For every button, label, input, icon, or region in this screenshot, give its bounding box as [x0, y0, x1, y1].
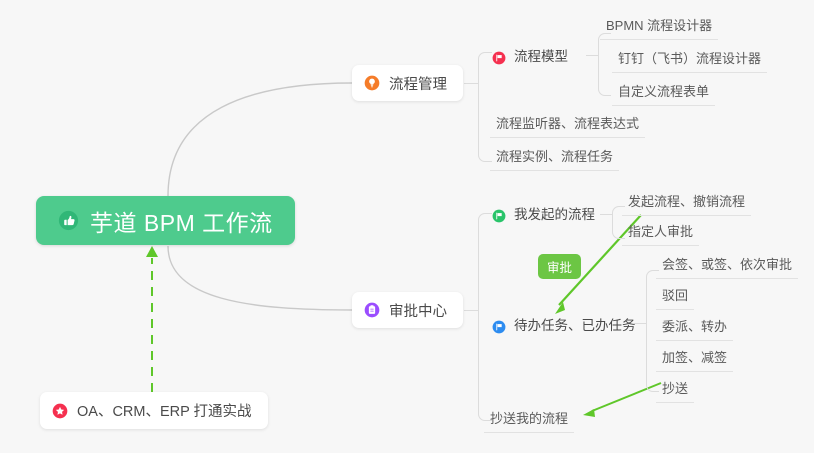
- root-label: 芋道 BPM 工作流: [90, 204, 273, 238]
- leaf-cc[interactable]: 抄送: [656, 375, 694, 403]
- leaf-start-cancel-process-label: 发起流程、撤销流程: [628, 191, 745, 210]
- bracket-approval-center: [478, 213, 492, 421]
- stub-process-model: [586, 55, 599, 56]
- bottom-note-label: OA、CRM、ERP 打通实战: [77, 400, 252, 421]
- leaf-countersign[interactable]: 会签、或签、依次审批: [656, 251, 798, 279]
- stub-process-management: [464, 83, 479, 84]
- approval-tag-label: 审批: [547, 257, 572, 276]
- leaf-assignee-approval-label: 指定人审批: [628, 221, 693, 240]
- leaf-start-cancel-process[interactable]: 发起流程、撤销流程: [622, 188, 751, 216]
- bottom-note-node[interactable]: OA、CRM、ERP 打通实战: [40, 392, 268, 429]
- branch-approval-center[interactable]: 审批中心: [352, 292, 463, 328]
- leaf-process-listener-label: 流程监听器、流程表达式: [496, 113, 639, 132]
- root-node[interactable]: 芋道 BPM 工作流: [36, 196, 295, 245]
- leaf-delegate-transfer[interactable]: 委派、转办: [656, 313, 733, 341]
- mindmap-canvas: 芋道 BPM 工作流 OA、CRM、ERP 打通实战 流程管理: [0, 0, 814, 453]
- branch-process-management[interactable]: 流程管理: [352, 65, 463, 101]
- approval-tag[interactable]: 审批: [538, 254, 581, 279]
- leaf-cc-to-me[interactable]: 抄送我的流程: [484, 405, 574, 433]
- leaf-process-instance[interactable]: 流程实例、流程任务: [490, 143, 619, 171]
- thumbs-up-circle-icon: [58, 210, 79, 231]
- branch-approval-center-label: 审批中心: [389, 300, 447, 321]
- leaf-dingtalk-designer-label: 钉钉（飞书）流程设计器: [618, 48, 761, 67]
- leaf-process-listener[interactable]: 流程监听器、流程表达式: [490, 110, 645, 138]
- node-todo-done-tasks-label: 待办任务、已办任务: [514, 314, 636, 334]
- leaf-bpmn-designer[interactable]: BPMN 流程设计器: [600, 12, 718, 40]
- leaf-custom-form[interactable]: 自定义流程表单: [612, 78, 715, 106]
- stub-approval-center: [464, 310, 479, 311]
- clipboard-circle-icon: [364, 302, 380, 318]
- lightbulb-circle-icon: [364, 75, 380, 91]
- leaf-cc-to-me-label: 抄送我的流程: [490, 408, 568, 427]
- leaf-reject[interactable]: 驳回: [656, 282, 694, 310]
- leaf-bpmn-designer-label: BPMN 流程设计器: [606, 15, 712, 34]
- node-process-model-label: 流程模型: [514, 45, 568, 65]
- star-circle-icon: [52, 403, 68, 419]
- stub-my-started: [600, 214, 613, 215]
- leaf-process-instance-label: 流程实例、流程任务: [496, 146, 613, 165]
- leaf-dingtalk-designer[interactable]: 钉钉（飞书）流程设计器: [612, 45, 767, 73]
- node-process-model[interactable]: 流程模型: [492, 42, 574, 70]
- leaf-custom-form-label: 自定义流程表单: [618, 81, 709, 100]
- leaf-add-remove-sign[interactable]: 加签、减签: [656, 344, 733, 372]
- green-dashed-arrow: [146, 246, 158, 392]
- leaf-assignee-approval[interactable]: 指定人审批: [622, 218, 699, 246]
- node-my-started-process-label: 我发起的流程: [514, 203, 595, 223]
- branch-process-management-label: 流程管理: [389, 73, 447, 94]
- leaf-reject-label: 驳回: [662, 285, 688, 304]
- leaf-cc-label: 抄送: [662, 378, 688, 397]
- node-my-started-process[interactable]: 我发起的流程: [492, 200, 601, 228]
- flag-circle-icon: [492, 209, 506, 223]
- bracket-process-model: [598, 33, 611, 96]
- leaf-countersign-label: 会签、或签、依次审批: [662, 254, 792, 273]
- leaf-delegate-transfer-label: 委派、转办: [662, 316, 727, 335]
- node-todo-done-tasks[interactable]: 待办任务、已办任务: [492, 311, 642, 339]
- leaf-add-remove-sign-label: 加签、减签: [662, 347, 727, 366]
- flag-circle-icon: [492, 320, 506, 334]
- flag-circle-icon: [492, 51, 506, 65]
